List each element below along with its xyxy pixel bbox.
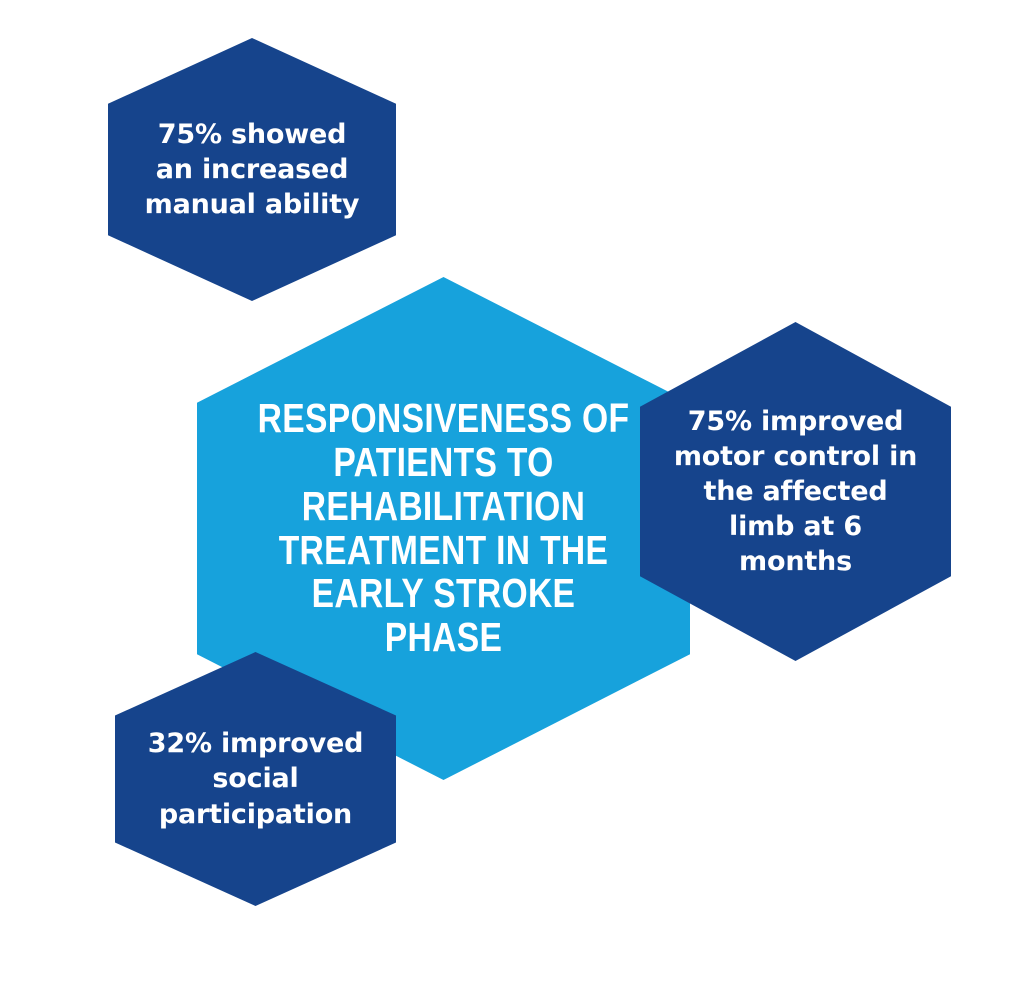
node-text-social-participation: 32% improved social participation: [115, 726, 396, 831]
node-text-motor-control: 75% improved motor control in the affect…: [640, 404, 951, 579]
infographic-canvas: RESPONSIVENESS OF PATIENTS TO REHABILITA…: [0, 0, 1024, 997]
node-text-manual-ability: 75% showed an increased manual ability: [108, 117, 396, 222]
node-hexagon-manual-ability: 75% showed an increased manual ability: [108, 38, 396, 301]
center-hexagon-title: RESPONSIVENESS OF PATIENTS TO REHABILITA…: [241, 397, 645, 660]
